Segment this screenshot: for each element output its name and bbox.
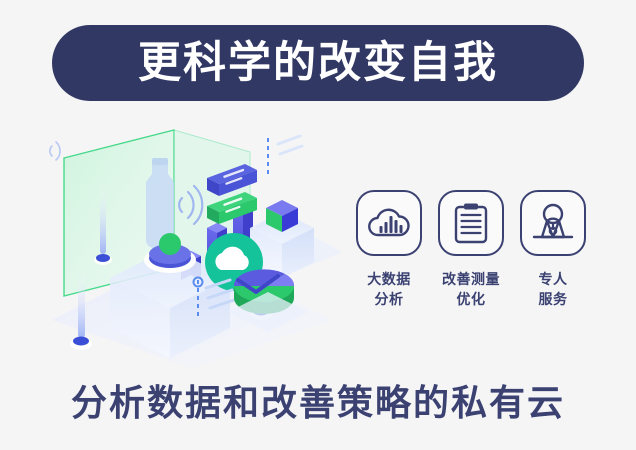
feature-label-measurement: 改善测量 优化 bbox=[442, 269, 500, 310]
header-pill: 更科学的改变自我 bbox=[52, 25, 584, 101]
feature-badge-service bbox=[520, 190, 586, 256]
feature-item-big-data[interactable]: 大数据 分析 bbox=[352, 190, 426, 310]
wifi-signal-small-icon bbox=[50, 142, 60, 160]
feature-label-service: 专人 服务 bbox=[539, 269, 568, 310]
feature-item-service[interactable]: 专人 服务 bbox=[516, 190, 590, 310]
page-title: 更科学的改变自我 bbox=[138, 42, 498, 85]
feature-label-big-data: 大数据 分析 bbox=[367, 269, 411, 310]
hero-illustration bbox=[42, 120, 342, 370]
clipboard-lines-icon bbox=[453, 202, 489, 244]
poster-root: 更科学的改变自我 bbox=[0, 0, 636, 450]
feature-list: 大数据 分析 改善测量 优化 bbox=[352, 190, 592, 310]
dashed-connector-upper bbox=[268, 136, 302, 176]
feature-badge-big-data bbox=[356, 190, 422, 256]
footer-tagline: 分析数据和改善策略的私有云 bbox=[0, 383, 636, 423]
feature-item-measurement[interactable]: 改善测量 优化 bbox=[434, 190, 508, 310]
service-person-icon bbox=[529, 201, 577, 245]
feature-badge-measurement bbox=[438, 190, 504, 256]
cloud-bar-chart-icon bbox=[367, 204, 411, 242]
